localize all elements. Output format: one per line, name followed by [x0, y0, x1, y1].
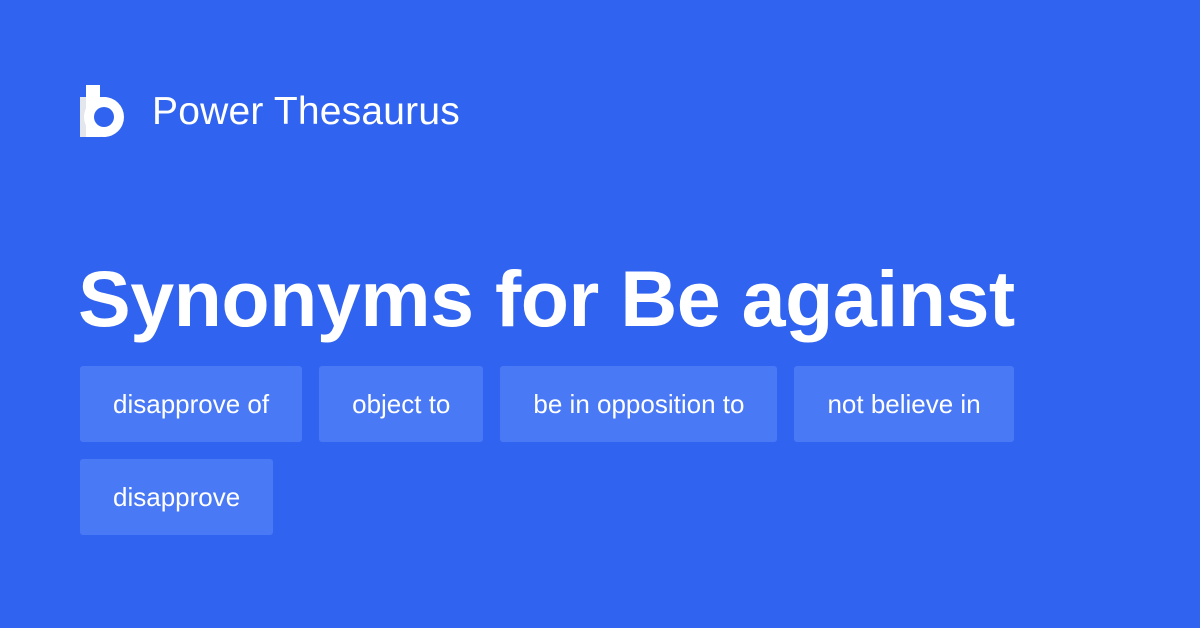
brand-wordmark: Power Thesaurus: [152, 92, 460, 131]
synonyms-card: Power Thesaurus Synonyms for Be against …: [0, 0, 1200, 628]
power-thesaurus-b-logo-icon: [80, 85, 128, 137]
synonym-chip[interactable]: be in opposition to: [500, 366, 777, 442]
synonym-chip[interactable]: object to: [319, 366, 483, 442]
synonym-chip-list: disapprove of object to be in opposition…: [80, 366, 1120, 535]
synonym-chip[interactable]: disapprove: [80, 459, 273, 535]
brand-lockup[interactable]: Power Thesaurus: [80, 80, 460, 142]
synonym-chip[interactable]: not believe in: [794, 366, 1013, 442]
page-title: Synonyms for Be against: [78, 251, 1128, 347]
synonym-chip[interactable]: disapprove of: [80, 366, 302, 442]
